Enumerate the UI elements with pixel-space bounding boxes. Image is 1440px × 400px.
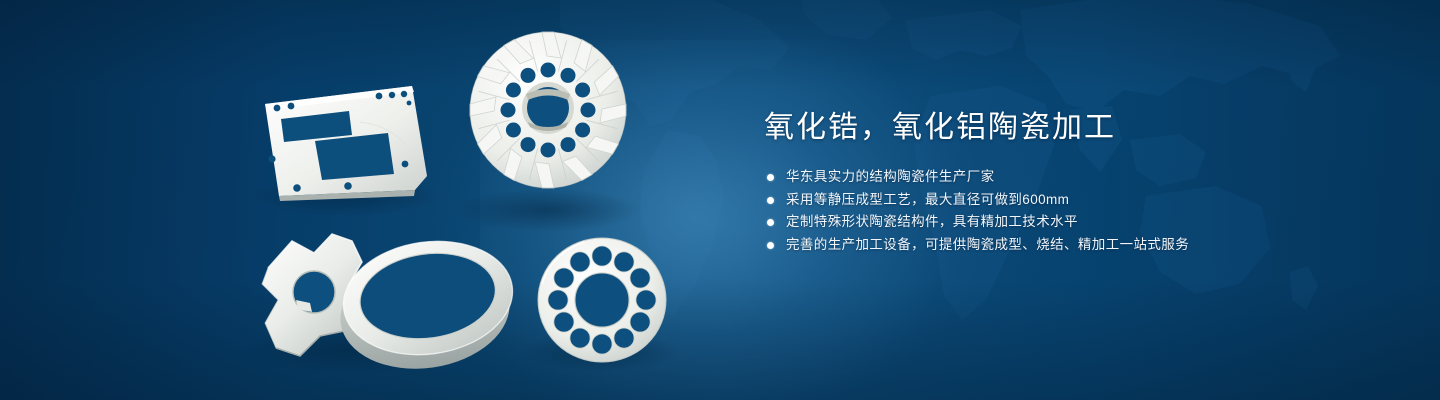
list-item-label: 定制特殊形状陶瓷结构件，具有精加工技术水平 [786,214,1078,229]
list-item: 采用等静压成型工艺，最大直径可做到600mm [764,189,1384,212]
feature-list: 华东具实力的结构陶瓷件生产厂家 采用等静压成型工艺，最大直径可做到600mm 定… [764,166,1384,256]
list-item-label: 完善的生产加工设备，可提供陶瓷成型、烧结、精加工一站式服务 [786,237,1189,252]
bullet-dot-icon [767,242,774,249]
bullet-dot-icon [767,219,774,226]
bullet-dot-icon [767,174,774,181]
bullet-dot-icon [767,197,774,204]
list-item: 完善的生产加工设备，可提供陶瓷成型、烧结、精加工一站式服务 [764,234,1384,257]
list-item: 华东具实力的结构陶瓷件生产厂家 [764,166,1384,189]
banner-copy: 氧化锆，氧化铝陶瓷加工 华东具实力的结构陶瓷件生产厂家 采用等静压成型工艺，最大… [764,106,1384,256]
list-item-label: 采用等静压成型工艺，最大直径可做到600mm [786,192,1069,207]
list-item-label: 华东具实力的结构陶瓷件生产厂家 [786,169,995,184]
page-title: 氧化锆，氧化铝陶瓷加工 [764,106,1384,150]
list-item: 定制特殊形状陶瓷结构件，具有精加工技术水平 [764,211,1384,234]
ceramic-processing-banner: 氧化锆，氧化铝陶瓷加工 华东具实力的结构陶瓷件生产厂家 采用等静压成型工艺，最大… [0,0,1440,400]
